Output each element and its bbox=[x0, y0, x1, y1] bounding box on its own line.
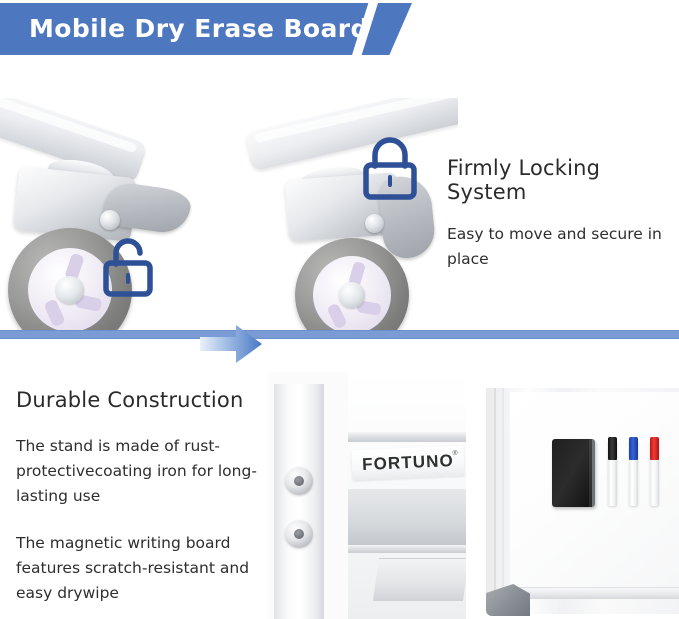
stand-post bbox=[274, 384, 324, 619]
magnetic-eraser bbox=[552, 439, 595, 507]
board-rail-middle bbox=[348, 489, 466, 545]
right-arrow-icon bbox=[200, 324, 262, 364]
stand-post-photo: FORTUNO ® bbox=[268, 372, 466, 619]
locking-system-copy: Firmly Locking System Easy to move and s… bbox=[447, 156, 679, 272]
closed-padlock-icon bbox=[358, 134, 422, 202]
board-frame-edge bbox=[494, 388, 496, 614]
marker-blue bbox=[629, 440, 638, 506]
wheel-axle bbox=[56, 276, 84, 304]
page-title: Mobile Dry Erase Board bbox=[29, 3, 369, 55]
durable-construction-paragraph-two: The magnetic writing board features scra… bbox=[16, 531, 264, 606]
post-bolt-lower bbox=[285, 520, 313, 548]
durable-construction-paragraph-one: The stand is made of rust-protectivecoat… bbox=[16, 434, 264, 509]
locking-system-section: Firmly Locking System Easy to move and s… bbox=[0, 98, 679, 330]
trademark-symbol: ® bbox=[452, 450, 457, 457]
brand-name: FORTUNO bbox=[362, 451, 455, 475]
board-rail-top bbox=[348, 432, 466, 442]
section-divider bbox=[0, 330, 679, 339]
caster-photo-unlocked bbox=[0, 98, 215, 330]
marker-red bbox=[650, 440, 659, 506]
stand-leg bbox=[244, 98, 458, 172]
brand-plate: FORTUNO ® bbox=[351, 446, 464, 481]
locking-system-body: Easy to move and secure in place bbox=[447, 222, 679, 272]
marker-black bbox=[608, 440, 617, 506]
open-padlock-icon bbox=[98, 234, 162, 300]
board-bottom-rail bbox=[510, 587, 679, 599]
hub-spoke bbox=[43, 298, 65, 327]
durable-construction-copy: Durable Construction The stand is made o… bbox=[16, 388, 264, 606]
durable-construction-heading: Durable Construction bbox=[16, 388, 264, 412]
wheel-axle bbox=[339, 282, 365, 308]
whiteboard-accessories-photo bbox=[478, 372, 679, 619]
locking-system-heading: Firmly Locking System bbox=[447, 156, 679, 204]
durable-construction-section: Durable Construction The stand is made o… bbox=[0, 372, 679, 619]
pivot-bolt bbox=[365, 214, 384, 233]
hub-spoke bbox=[326, 303, 347, 330]
caster-photo-locked bbox=[243, 98, 458, 330]
header-banner: Mobile Dry Erase Board bbox=[0, 3, 412, 55]
board-rail-bottom bbox=[348, 545, 466, 553]
board-frame-edge bbox=[502, 388, 504, 614]
marker-tray bbox=[373, 558, 466, 601]
pivot-bolt bbox=[100, 210, 120, 230]
post-bolt-upper bbox=[285, 467, 313, 495]
